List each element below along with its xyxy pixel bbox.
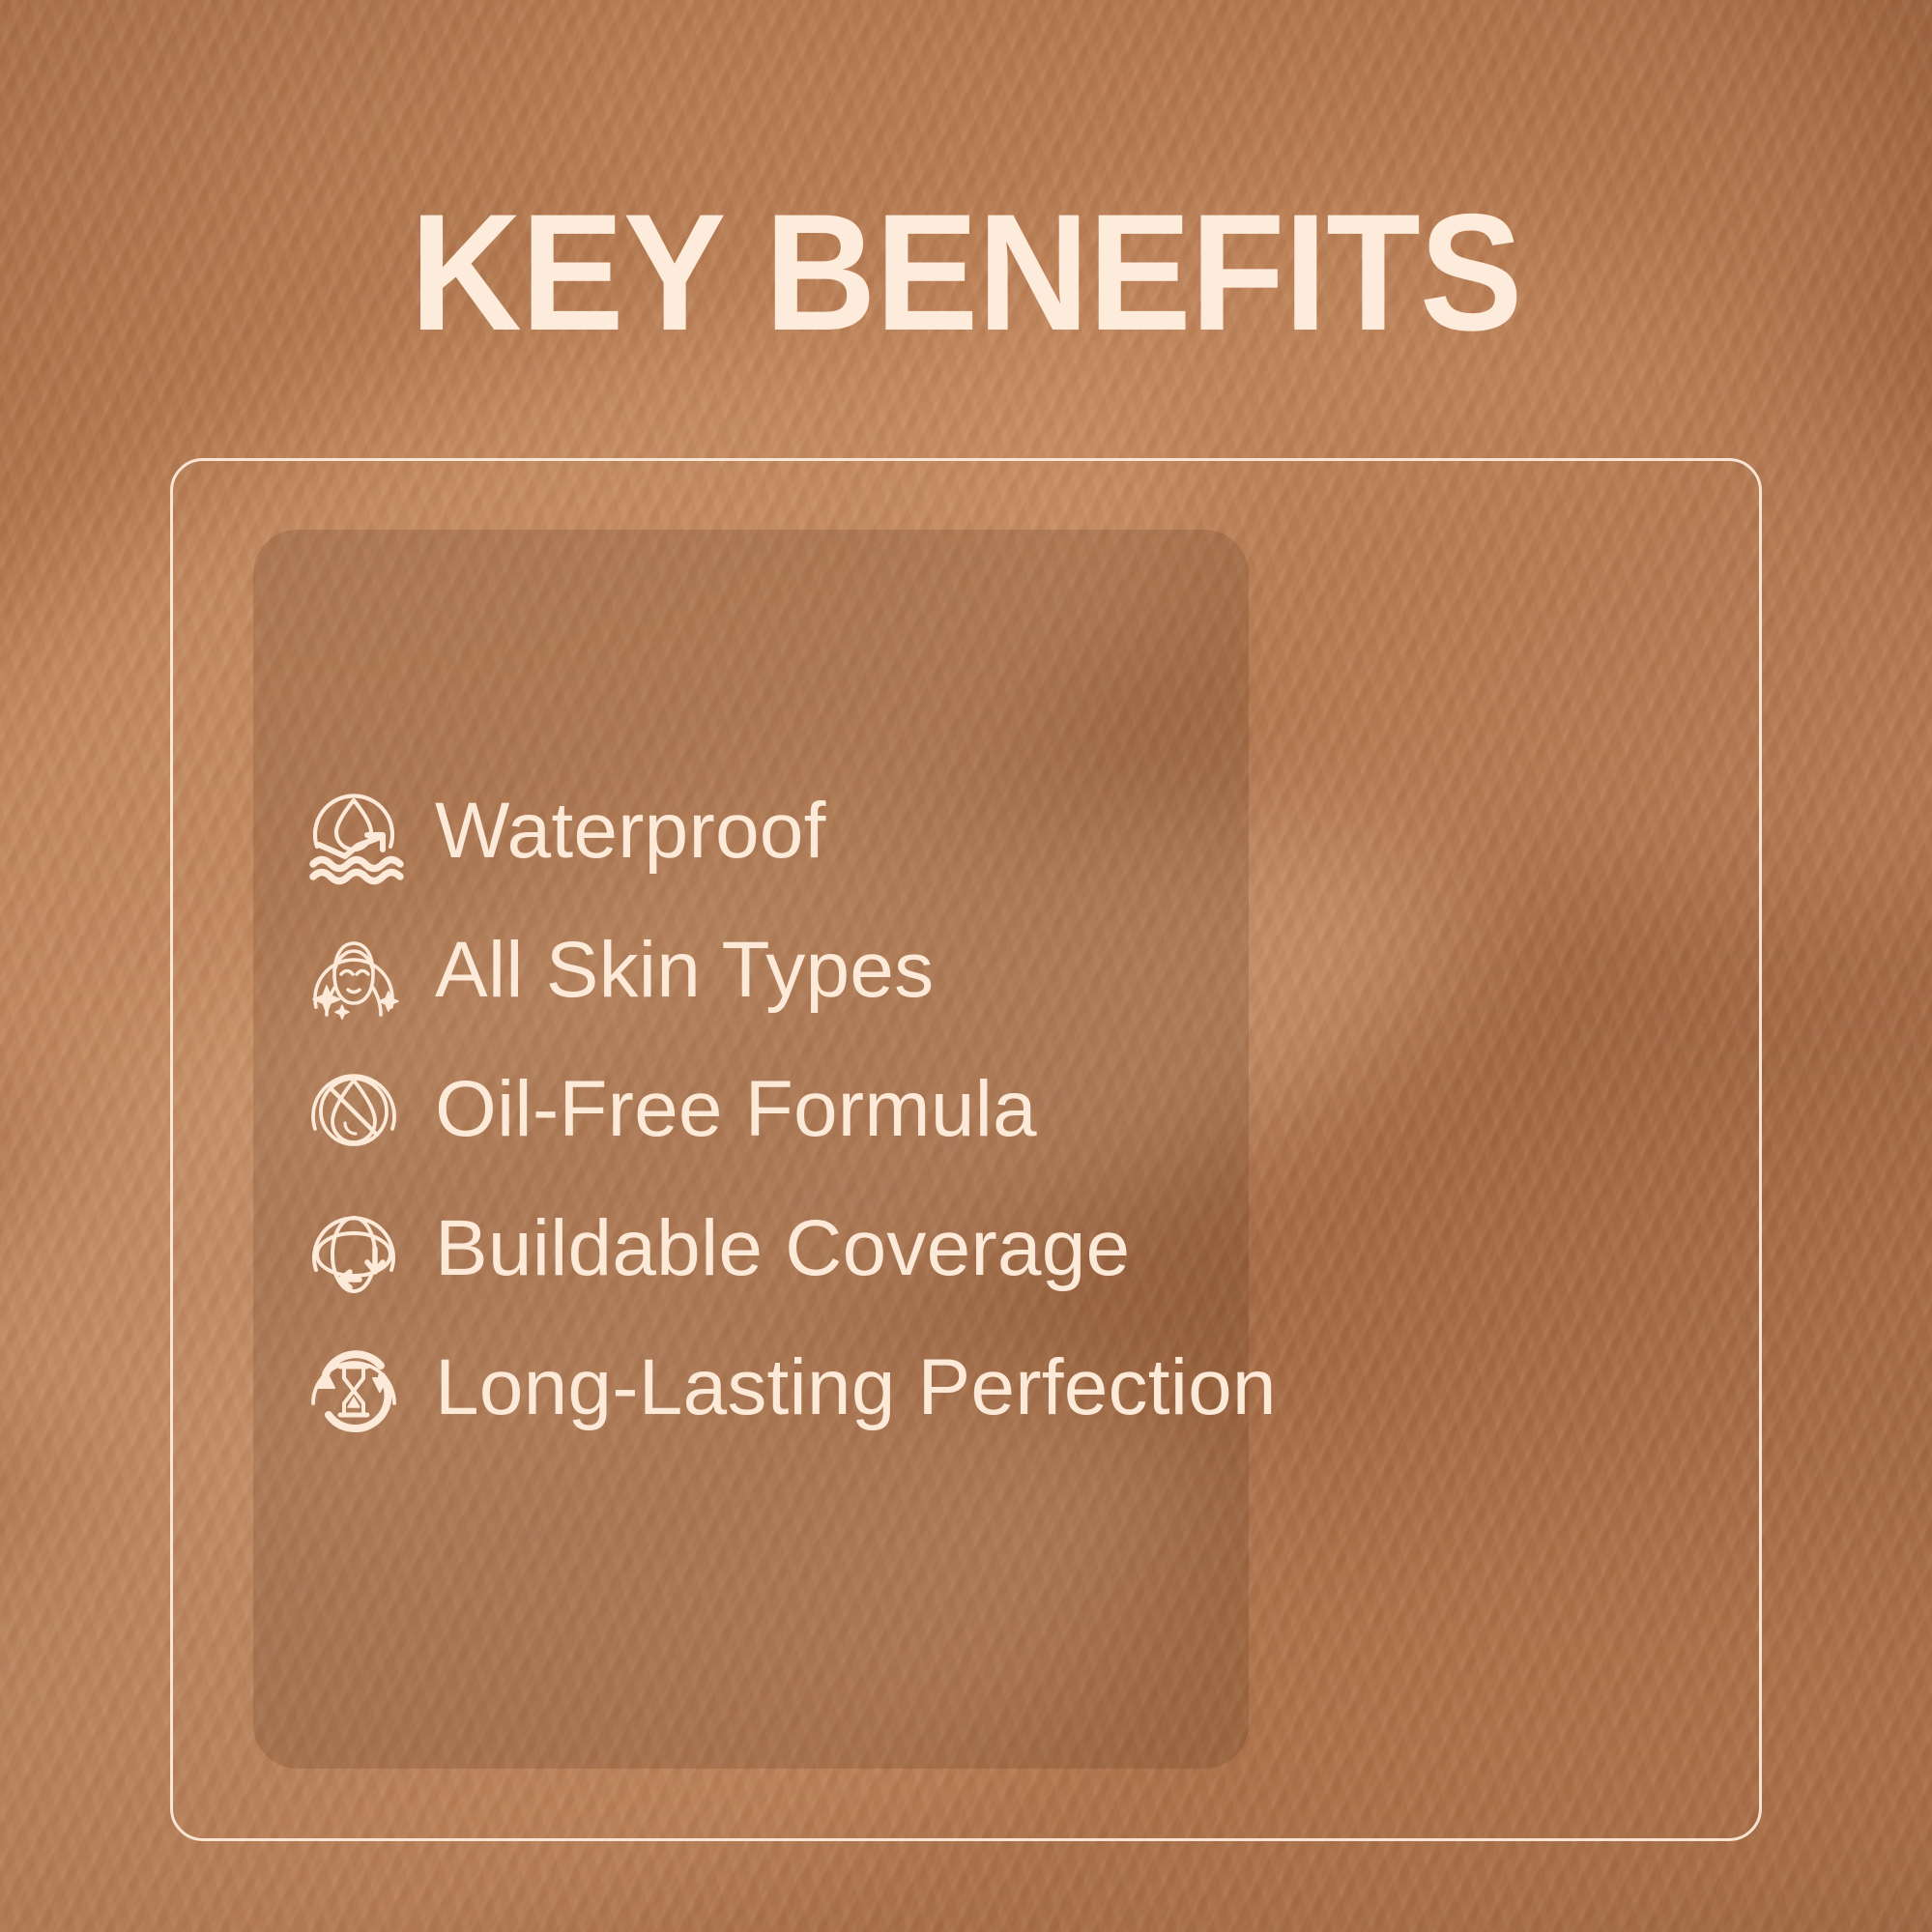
no-oil-droplet-icon [300,1055,408,1164]
page-title: KEY BENEFITS [68,189,1864,356]
list-item-label: Waterproof [435,792,826,871]
hourglass-refresh-icon [300,1334,408,1442]
list-item-label: All Skin Types [435,931,934,1010]
list-item: Waterproof [300,777,1277,885]
list-item-label: Long-Lasting Perfection [435,1348,1277,1427]
list-item: Long-Lasting Perfection [300,1334,1277,1442]
buildable-layers-arrows-icon [300,1195,408,1303]
list-item-label: Buildable Coverage [435,1209,1130,1288]
list-item: Oil-Free Formula [300,1055,1277,1164]
list-item: Buildable Coverage [300,1195,1277,1303]
benefits-card: KEY BENEFITS Waterproof [0,0,1932,1932]
list-item: All Skin Types [300,916,1277,1024]
benefits-list: Waterproof All Skin Types [300,777,1277,1442]
list-item-label: Oil-Free Formula [435,1070,1037,1149]
face-sparkles-icon [300,916,408,1024]
waterproof-droplet-waves-icon [300,777,408,885]
